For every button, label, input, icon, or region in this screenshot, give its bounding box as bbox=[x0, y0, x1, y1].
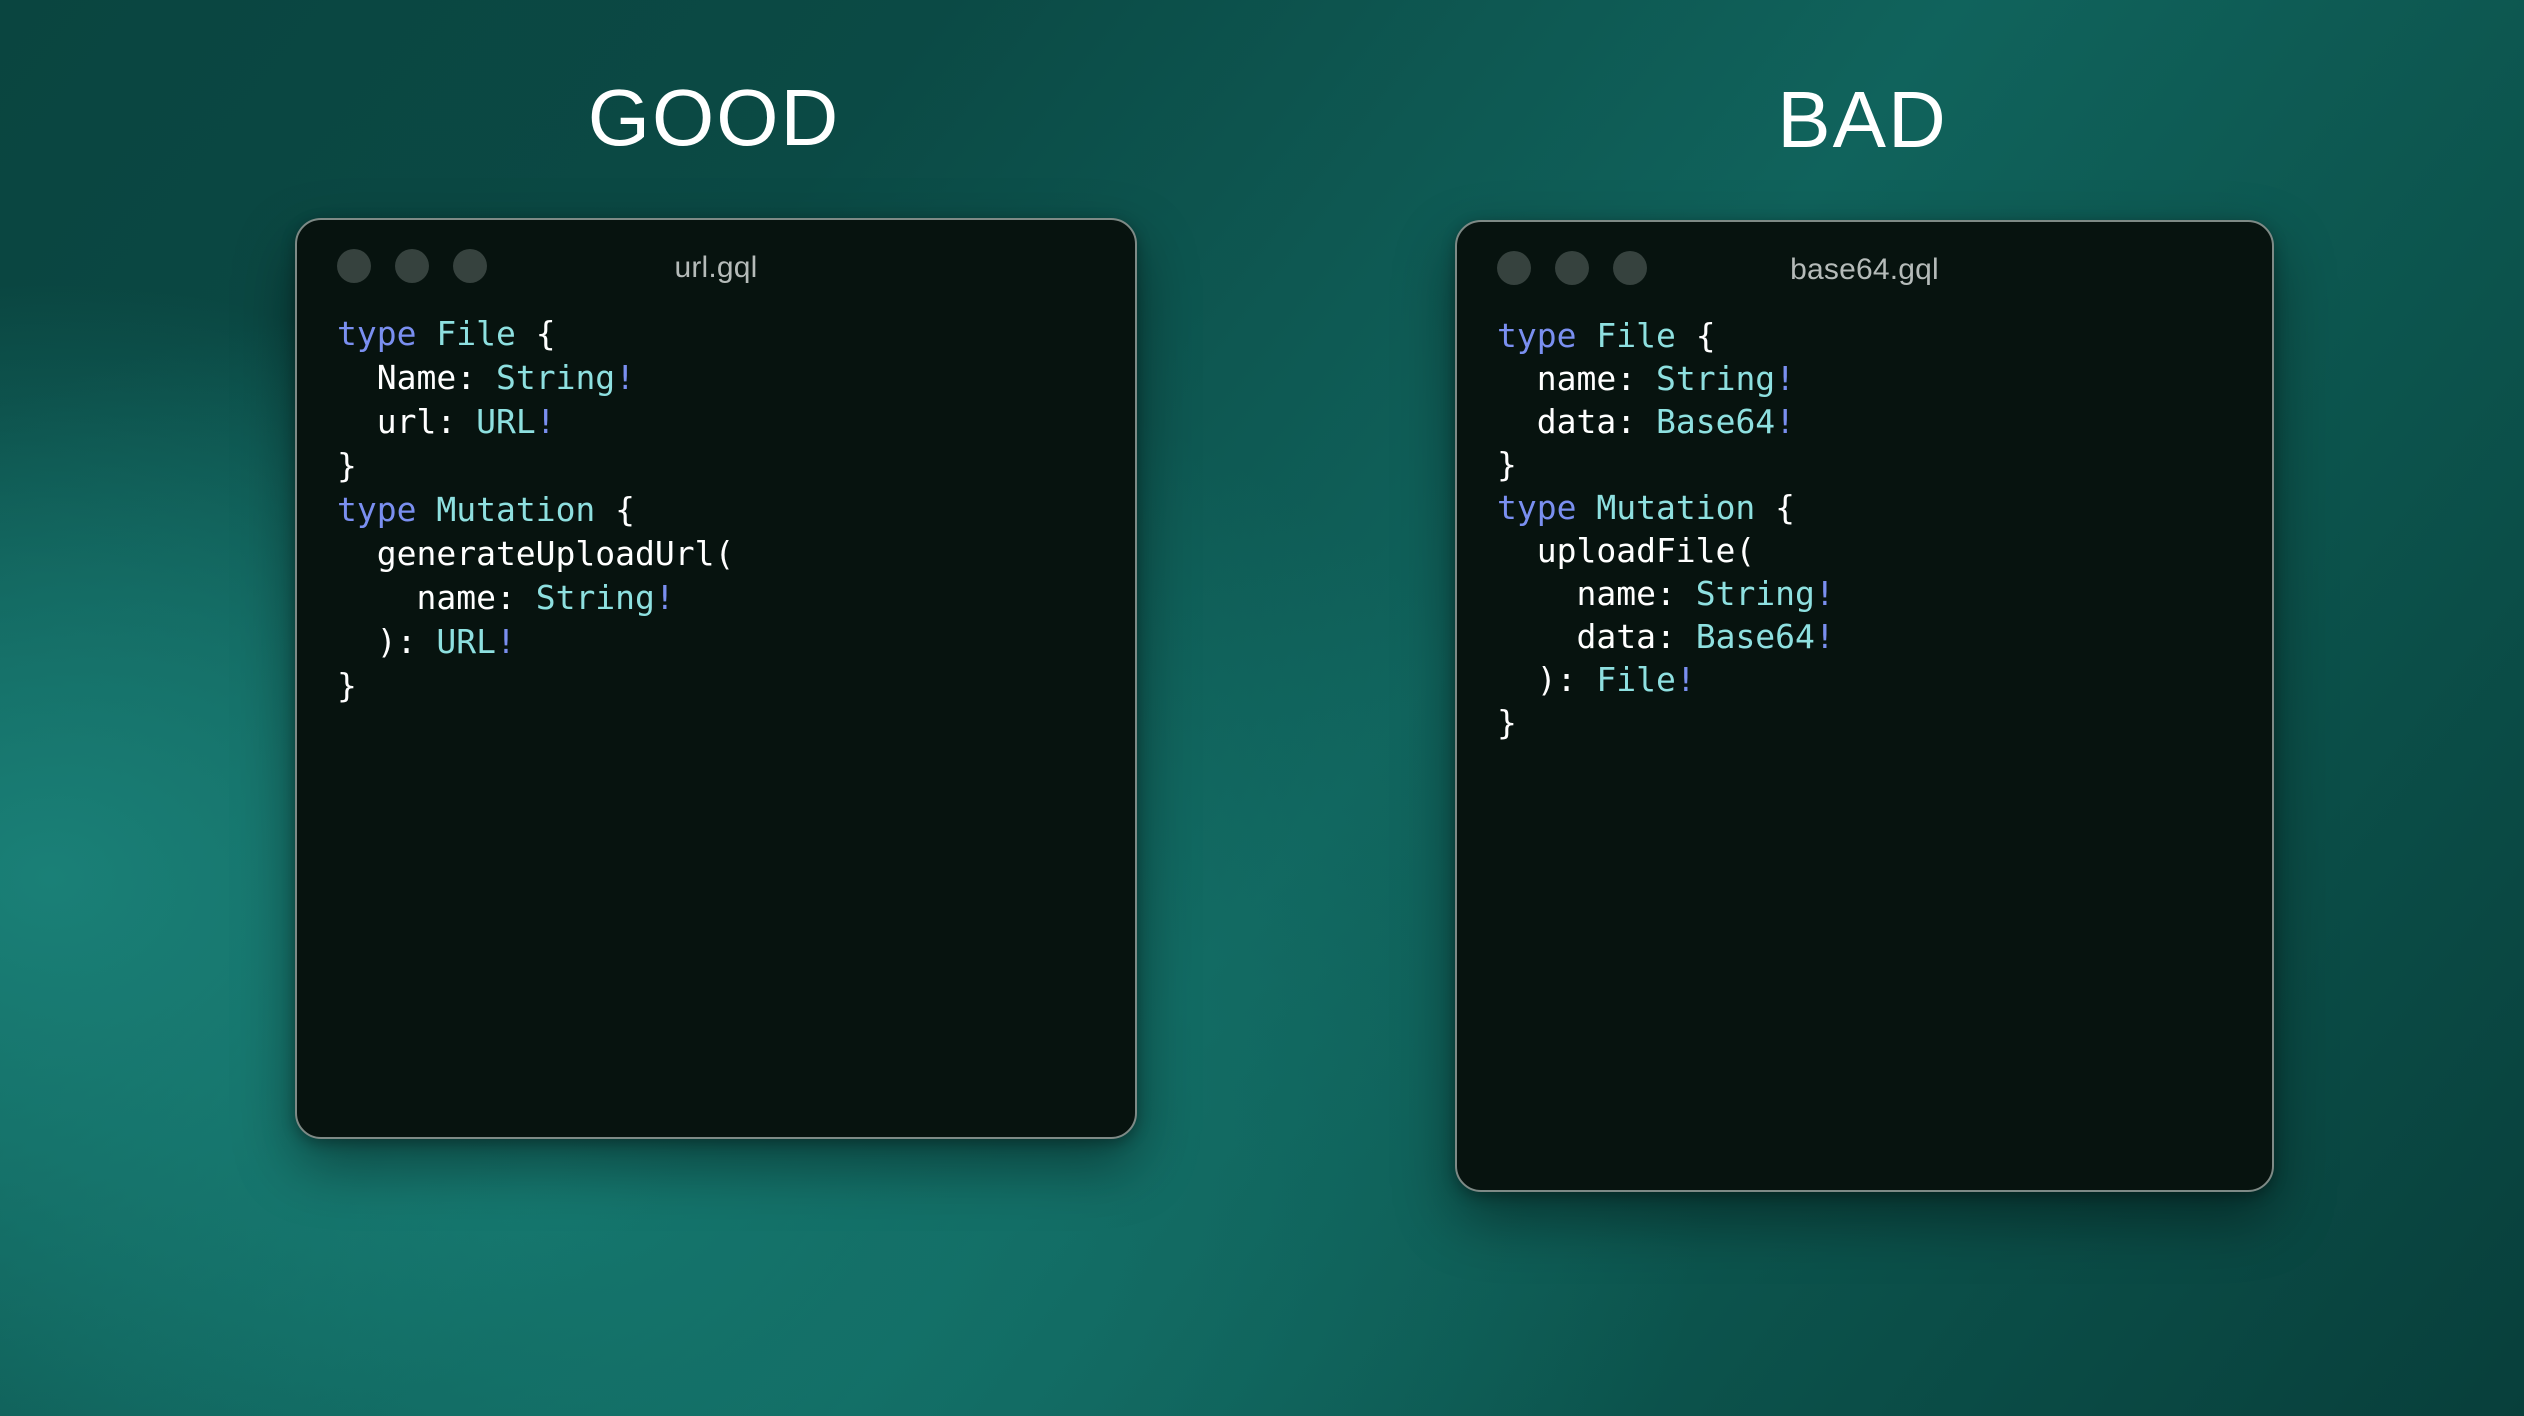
code-token: ): bbox=[1497, 660, 1596, 699]
code-token: : bbox=[1656, 574, 1696, 613]
code-token: type bbox=[1497, 488, 1576, 527]
panel-heading-bad: BAD bbox=[1455, 80, 2270, 160]
code-window-good: url.gql type File { Name: String! url: U… bbox=[295, 218, 1137, 1139]
code-token: File bbox=[1596, 316, 1675, 355]
code-token: generateUploadUrl( bbox=[337, 534, 734, 573]
code-line: name: String! bbox=[1497, 357, 2272, 400]
code-token: File bbox=[1596, 660, 1675, 699]
code-token: } bbox=[1497, 703, 1517, 742]
code-token: ! bbox=[1815, 574, 1835, 613]
code-token: name bbox=[337, 578, 496, 617]
code-token: File bbox=[436, 314, 515, 353]
panel-heading-good: GOOD bbox=[295, 78, 1133, 158]
code-token: ! bbox=[1815, 617, 1835, 656]
code-token: String bbox=[536, 578, 655, 617]
code-line: Name: String! bbox=[337, 356, 1135, 400]
code-line: } bbox=[1497, 443, 2272, 486]
code-line: type Mutation { bbox=[337, 488, 1135, 532]
code-token: ! bbox=[536, 402, 556, 441]
code-line: data: Base64! bbox=[1497, 400, 2272, 443]
code-token: URL bbox=[476, 402, 536, 441]
code-line: } bbox=[337, 664, 1135, 708]
code-token: { bbox=[516, 314, 556, 353]
code-token: String bbox=[496, 358, 615, 397]
code-line: type File { bbox=[337, 312, 1135, 356]
code-line: url: URL! bbox=[337, 400, 1135, 444]
code-token: Base64 bbox=[1656, 402, 1775, 441]
code-block-good: type File { Name: String! url: URL!}type… bbox=[297, 312, 1135, 708]
code-token: Mutation bbox=[436, 490, 595, 529]
code-token: data bbox=[1497, 402, 1616, 441]
code-token: String bbox=[1656, 359, 1775, 398]
code-line: type Mutation { bbox=[1497, 486, 2272, 529]
code-token bbox=[416, 314, 436, 353]
code-token: Name bbox=[337, 358, 456, 397]
code-token: : bbox=[496, 578, 536, 617]
code-token: name bbox=[1497, 574, 1656, 613]
code-token: { bbox=[1676, 316, 1716, 355]
code-line: uploadFile( bbox=[1497, 529, 2272, 572]
code-line: } bbox=[337, 444, 1135, 488]
code-token: Mutation bbox=[1596, 488, 1755, 527]
code-token bbox=[1576, 488, 1596, 527]
window-titlebar: base64.gql bbox=[1457, 222, 2272, 314]
code-token: } bbox=[337, 666, 357, 705]
window-filename: url.gql bbox=[297, 251, 1135, 285]
code-token: : bbox=[1616, 359, 1656, 398]
code-token: ! bbox=[1676, 660, 1696, 699]
code-token: ! bbox=[655, 578, 675, 617]
code-line: name: String! bbox=[337, 576, 1135, 620]
slide-canvas: GOOD BAD url.gql type File { Name: Strin… bbox=[0, 0, 2524, 1416]
code-token: ! bbox=[1775, 402, 1795, 441]
code-token: : bbox=[456, 358, 496, 397]
code-window-bad: base64.gql type File { name: String! dat… bbox=[1455, 220, 2274, 1192]
code-line: ): File! bbox=[1497, 658, 2272, 701]
code-token: ! bbox=[1775, 359, 1795, 398]
code-token: ! bbox=[496, 622, 516, 661]
code-token: type bbox=[337, 490, 416, 529]
code-line: name: String! bbox=[1497, 572, 2272, 615]
code-line: data: Base64! bbox=[1497, 615, 2272, 658]
code-token: uploadFile( bbox=[1497, 531, 1755, 570]
code-token: ! bbox=[615, 358, 635, 397]
code-line: ): URL! bbox=[337, 620, 1135, 664]
code-token: name bbox=[1497, 359, 1616, 398]
window-titlebar: url.gql bbox=[297, 220, 1135, 312]
code-token: Base64 bbox=[1696, 617, 1815, 656]
code-token: { bbox=[1755, 488, 1795, 527]
code-token: type bbox=[1497, 316, 1576, 355]
code-token: { bbox=[595, 490, 635, 529]
code-block-bad: type File { name: String! data: Base64!}… bbox=[1457, 314, 2272, 744]
code-token bbox=[416, 490, 436, 529]
code-token: url bbox=[337, 402, 436, 441]
code-token: data bbox=[1497, 617, 1656, 656]
code-line: type File { bbox=[1497, 314, 2272, 357]
code-token: ): bbox=[337, 622, 436, 661]
code-token: type bbox=[337, 314, 416, 353]
code-token: : bbox=[1656, 617, 1696, 656]
window-filename: base64.gql bbox=[1457, 253, 2272, 287]
code-token: : bbox=[436, 402, 476, 441]
code-token: URL bbox=[436, 622, 496, 661]
code-line: } bbox=[1497, 701, 2272, 744]
code-token: String bbox=[1696, 574, 1815, 613]
code-token bbox=[1576, 316, 1596, 355]
code-line: generateUploadUrl( bbox=[337, 532, 1135, 576]
code-token: : bbox=[1616, 402, 1656, 441]
code-token: } bbox=[337, 446, 357, 485]
code-token: } bbox=[1497, 445, 1517, 484]
